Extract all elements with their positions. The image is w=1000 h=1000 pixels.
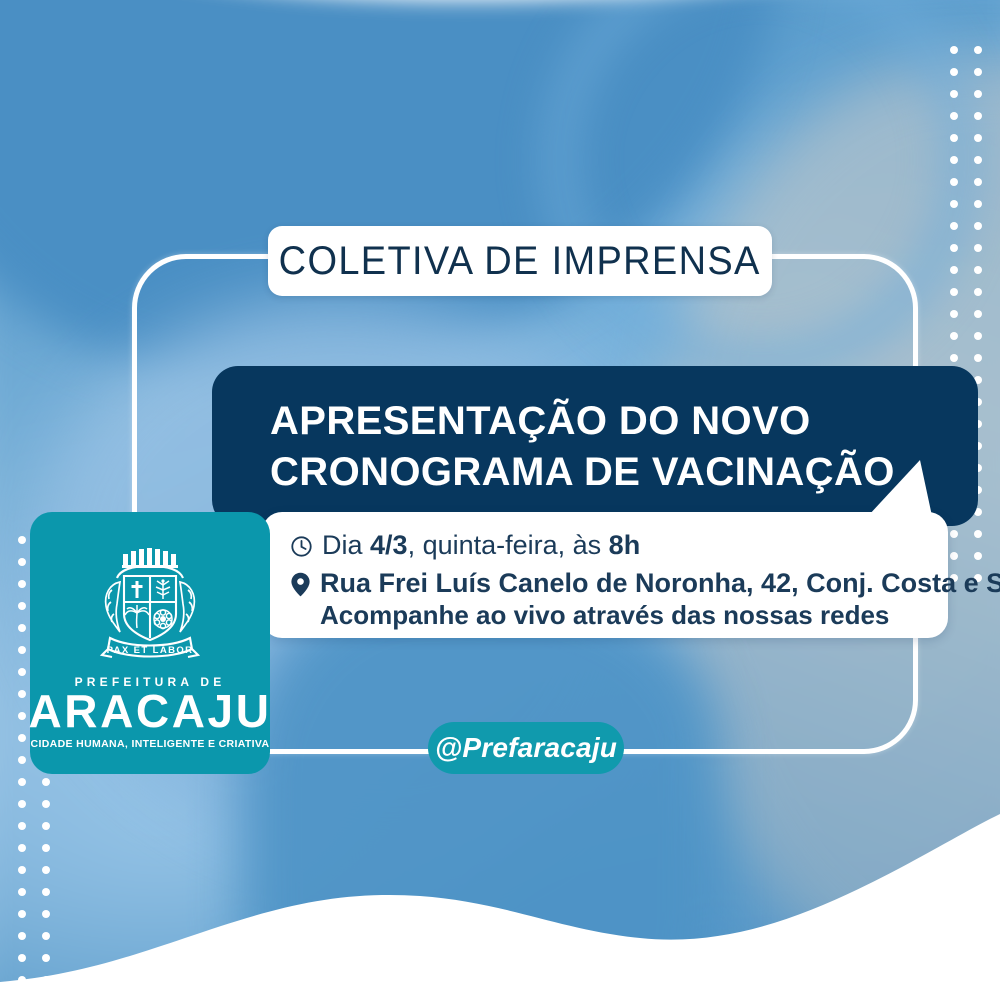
social-handle-label: @Prefaracaju	[435, 732, 617, 764]
date-time: 8h	[609, 530, 641, 560]
city-logo-card: PAX ET LABOR PREFEITURA DE ARACAJU CIDAD…	[30, 512, 270, 774]
headline-line-1: APRESENTAÇÃO DO NOVO	[270, 396, 895, 447]
social-handle-badge[interactable]: @Prefaracaju	[428, 722, 624, 774]
clock-icon	[290, 534, 313, 566]
event-date-row: Dia 4/3, quinta-feira, às 8h	[290, 530, 640, 566]
event-location-text: Rua Frei Luís Canelo de Noronha, 42, Con…	[320, 568, 1000, 631]
kicker-label: COLETIVA DE IMPRENSA	[279, 239, 761, 284]
poster-canvas: COLETIVA DE IMPRENSA APRESENTAÇÃO DO NOV…	[0, 0, 1000, 1000]
event-location-row: Rua Frei Luís Canelo de Noronha, 42, Con…	[290, 568, 1000, 631]
svg-text:PAX ET LABOR: PAX ET LABOR	[107, 645, 194, 656]
dot-column	[18, 536, 26, 1000]
bottom-wave-decoration	[0, 770, 1000, 1000]
event-address: Rua Frei Luís Canelo de Noronha, 42, Con…	[320, 568, 1000, 598]
headline-line-2: CRONOGRAMA DE VACINAÇÃO	[270, 447, 895, 498]
aracaju-coat-of-arms-icon: PAX ET LABOR	[84, 538, 216, 671]
map-pin-icon	[290, 572, 311, 605]
date-value: 4/3	[370, 530, 408, 560]
kicker-badge: COLETIVA DE IMPRENSA	[268, 226, 772, 296]
event-date-text: Dia 4/3, quinta-feira, às 8h	[322, 530, 640, 562]
event-livestream-note: Acompanhe ao vivo através das nossas red…	[320, 600, 1000, 631]
date-prefix: Dia	[322, 530, 370, 560]
date-middle: , quinta-feira, às	[408, 530, 609, 560]
headline-bubble: APRESENTAÇÃO DO NOVO CRONOGRAMA DE VACIN…	[212, 366, 978, 526]
headline-text: APRESENTAÇÃO DO NOVO CRONOGRAMA DE VACIN…	[270, 396, 895, 498]
logo-tagline: CIDADE HUMANA, INTELIGENTE E CRIATIVA	[31, 738, 270, 750]
event-details-card: Dia 4/3, quinta-feira, às 8h Rua Frei Lu…	[262, 512, 948, 638]
logo-city-name: ARACAJU	[28, 688, 271, 734]
